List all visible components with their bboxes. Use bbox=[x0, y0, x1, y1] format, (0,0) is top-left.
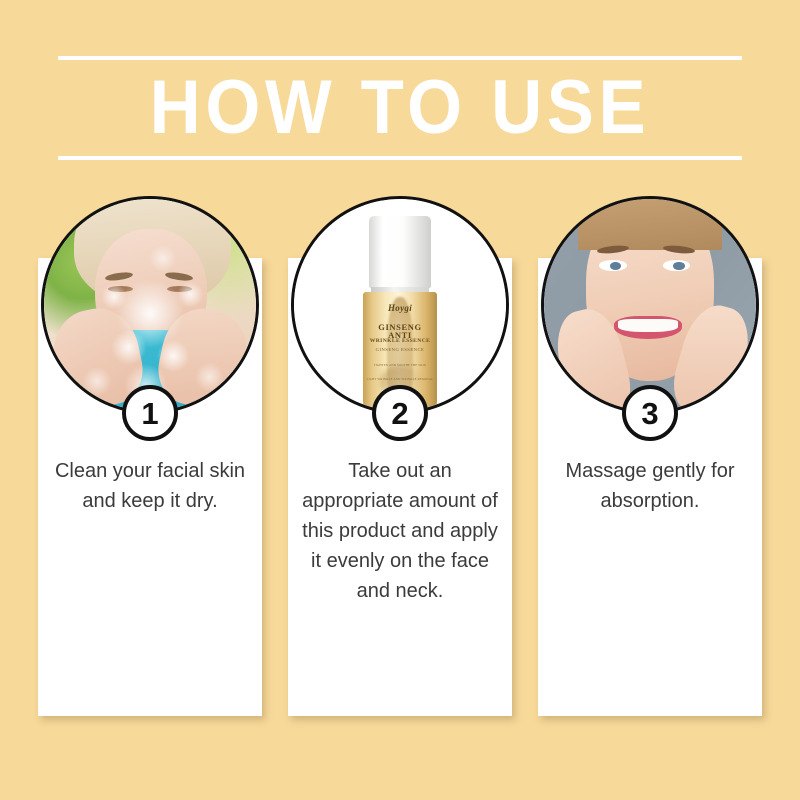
essence-bottle: Hoygi GINSENG ANTI WRINKLE ESSENCE GINSE… bbox=[363, 216, 437, 407]
step-caption-1: Clean your facial skin and keep it dry. bbox=[50, 456, 250, 516]
step-badge-1: 1 bbox=[122, 385, 178, 441]
step-card-1: 1 Clean your facial skin and keep it dry… bbox=[38, 258, 262, 716]
step-card-3: 3 Massage gently for absorption. bbox=[538, 258, 762, 716]
header-rule-top bbox=[58, 56, 742, 60]
step-badge-2: 2 bbox=[372, 385, 428, 441]
photo-1-water-droplets bbox=[44, 199, 256, 411]
photo-3-mouth bbox=[614, 316, 682, 339]
step-card-2: Hoygi GINSENG ANTI WRINKLE ESSENCE GINSE… bbox=[288, 258, 512, 716]
step-2-photo: Hoygi GINSENG ANTI WRINKLE ESSENCE GINSE… bbox=[291, 196, 509, 414]
step-1-photo bbox=[41, 196, 259, 414]
header-rule-bottom bbox=[58, 156, 742, 160]
bottle-fine-print-2: LIGHT WRINKLE AND WRINKLE REMOVAL bbox=[363, 377, 437, 382]
step-caption-2: Take out an appropriate amount of this p… bbox=[300, 456, 500, 606]
bottle-brand-name: Hoygi bbox=[363, 303, 437, 313]
page-title: HOW TO USE bbox=[82, 64, 718, 152]
photo-3-teeth bbox=[618, 319, 678, 332]
bottle-subtitle: GINSENG ESSENCE bbox=[363, 347, 437, 352]
step-3-photo bbox=[541, 196, 759, 414]
photo-3-hair bbox=[578, 199, 722, 250]
step-badge-3: 3 bbox=[622, 385, 678, 441]
steps-container: 1 Clean your facial skin and keep it dry… bbox=[38, 258, 762, 716]
washing-face-image bbox=[44, 199, 256, 411]
product-bottle-image: Hoygi GINSENG ANTI WRINKLE ESSENCE GINSE… bbox=[294, 199, 506, 411]
bottle-name-line-3: WRINKLE ESSENCE bbox=[363, 338, 437, 344]
page-header: HOW TO USE bbox=[58, 56, 742, 160]
bottle-pump-cap bbox=[369, 216, 431, 289]
photo-3-eye-left bbox=[599, 260, 627, 271]
step-caption-3: Massage gently for absorption. bbox=[550, 456, 750, 516]
bottle-fine-print-1: TIGHTEN AND SOOTHE THE SKIN bbox=[363, 363, 437, 368]
massaging-face-image bbox=[544, 199, 756, 411]
